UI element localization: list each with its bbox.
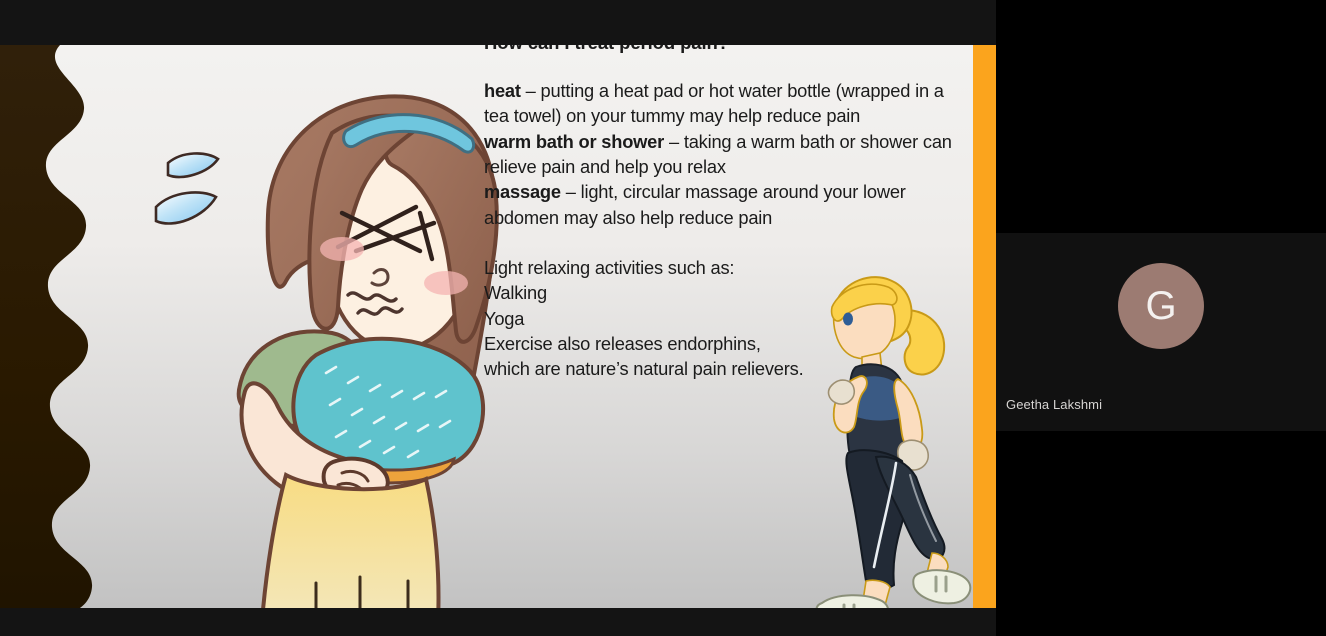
stage-top-letterbox xyxy=(0,0,996,45)
participant-rail: G Geetha Lakshmi xyxy=(996,0,1326,636)
treatment-term-heat: heat xyxy=(484,80,521,101)
shared-screen-region[interactable]: How can I treat period pain? heat – putt… xyxy=(0,0,996,636)
slide-text-block: How can I treat period pain? heat – putt… xyxy=(484,31,959,381)
video-tile-empty-bottom[interactable] xyxy=(996,431,1326,636)
slide-accent-bar xyxy=(973,45,996,608)
participant-name-label: Geetha Lakshmi xyxy=(1006,397,1102,412)
treatment-dash: – xyxy=(561,181,581,202)
treatment-item-heat: heat – putting a heat pad or hot water b… xyxy=(484,78,959,129)
treatment-item-bath: warm bath or shower – taking a warm bath… xyxy=(484,129,959,180)
fist-front xyxy=(829,380,855,404)
activities-intro: Light relaxing activities such as: xyxy=(484,255,959,280)
treatment-dash: – xyxy=(521,80,541,101)
skirt xyxy=(262,475,439,608)
blush xyxy=(424,271,468,295)
treatment-item-massage: massage – light, circular massage around… xyxy=(484,179,959,230)
text-spacer xyxy=(484,230,959,255)
avatar: G xyxy=(1118,263,1204,349)
video-tile-empty-top[interactable] xyxy=(996,0,1326,233)
activity-walking: Walking xyxy=(484,280,959,305)
closing-line-1: Exercise also releases endorphins, xyxy=(484,331,959,356)
stage-bottom-letterbox xyxy=(0,608,996,636)
closing-line-2: which are nature’s natural pain reliever… xyxy=(484,356,959,381)
avatar-initial: G xyxy=(1145,284,1176,329)
treatment-dash: – xyxy=(664,131,684,152)
meeting-screen: How can I treat period pain? heat – putt… xyxy=(0,0,1326,636)
activity-yoga: Yoga xyxy=(484,306,959,331)
blush xyxy=(320,237,364,261)
treatment-term-massage: massage xyxy=(484,181,561,202)
treatment-term-bath: warm bath or shower xyxy=(484,131,664,152)
treatment-desc-heat: putting a heat pad or hot water bottle (… xyxy=(484,80,944,126)
participant-tile[interactable]: G Geetha Lakshmi xyxy=(996,233,1326,431)
